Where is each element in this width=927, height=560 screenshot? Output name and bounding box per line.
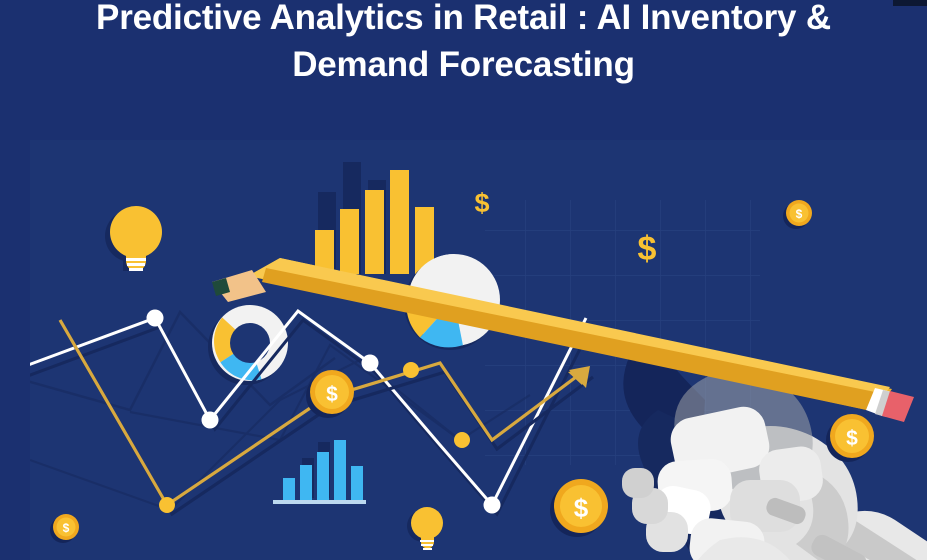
- svg-text:$: $: [63, 521, 70, 535]
- blue-bar-chart: [273, 440, 366, 504]
- illustration-artwork: $ $ $ $: [30, 140, 927, 560]
- dollar-glyph-left: $: [474, 188, 489, 218]
- dollar-glyph-right: $: [638, 230, 657, 268]
- coin-top-right: $: [783, 200, 812, 229]
- lightbulb-small-icon: [407, 507, 443, 550]
- svg-text:$: $: [846, 427, 858, 450]
- svg-text:$: $: [796, 207, 803, 221]
- lightbulb-large-icon: [105, 206, 162, 271]
- svg-text:$: $: [574, 493, 589, 523]
- coin-bottom-center: $: [550, 479, 608, 537]
- coin-right: $: [826, 414, 874, 462]
- page-title: Predictive Analytics in Retail : AI Inve…: [0, 0, 927, 88]
- hero-banner: Predictive Analytics in Retail : AI Inve…: [0, 0, 927, 560]
- svg-text:$: $: [326, 383, 338, 406]
- corner-notch: [893, 0, 927, 6]
- coin-bottom-left: $: [50, 514, 79, 543]
- yellow-bar-chart: [315, 162, 434, 274]
- illustration-panel: $ $ $ $: [30, 140, 927, 560]
